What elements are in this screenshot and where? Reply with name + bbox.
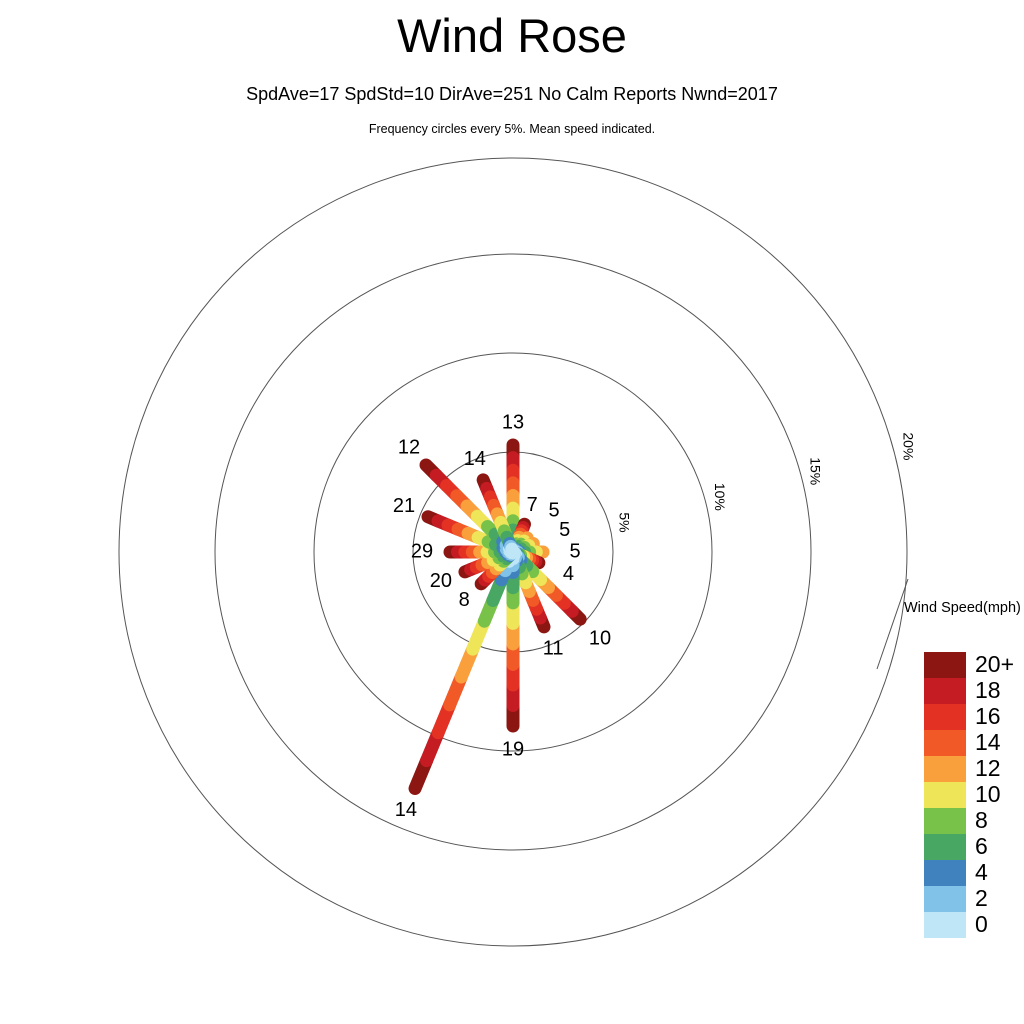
petal-mean-speed-label: 5: [548, 499, 559, 521]
legend-entry-label: 16: [975, 705, 1001, 728]
legend-color-swatch: [924, 886, 966, 912]
legend-entry-label: 0: [975, 913, 988, 936]
wind-speed-legend: Wind Speed(mph) 20+181614121086420: [898, 601, 1024, 938]
petal-speed-segment: [512, 549, 513, 552]
petal-mean-speed-label: 11: [543, 637, 564, 659]
petal-mean-speed-label: 7: [527, 494, 538, 516]
petal-mean-speed-label: 13: [502, 411, 524, 433]
legend-entry: 18: [924, 678, 1024, 704]
legend-color-swatch: [924, 782, 966, 808]
wind-rose-page: Wind Rose SpdAve=17 SpdStd=10 DirAve=251…: [0, 0, 1024, 1024]
legend-entry: 8: [924, 808, 1024, 834]
legend-entry: 4: [924, 860, 1024, 886]
legend-entry-label: 20+: [975, 653, 1014, 676]
legend-entry: 20+: [924, 652, 1024, 678]
frequency-ring-label: 15%: [808, 457, 824, 485]
legend-entry-label: 6: [975, 835, 988, 858]
legend-color-swatch: [924, 912, 966, 938]
legend-entry: 0: [924, 912, 1024, 938]
petal-mean-speed-label: 4: [563, 563, 574, 585]
legend-color-swatch: [924, 834, 966, 860]
legend-entry-label: 18: [975, 679, 1001, 702]
petal-mean-speed-label: 14: [464, 448, 486, 470]
legend-entry-list: 20+181614121086420: [924, 652, 1024, 938]
petal-mean-speed-label: 21: [393, 495, 415, 517]
legend-title: Wind Speed(mph): [904, 601, 1024, 616]
wind-rose-petals: [415, 445, 580, 789]
legend-entry: 2: [924, 886, 1024, 912]
petal-mean-speed-label: 20: [430, 570, 452, 592]
frequency-ring-labels: 5%10%15%20%: [616, 432, 916, 532]
legend-entry-label: 14: [975, 731, 1001, 754]
petal-mean-speed-label: 29: [411, 540, 433, 562]
legend-entry: 12: [924, 756, 1024, 782]
legend-color-swatch: [924, 652, 966, 678]
legend-entry-label: 4: [975, 861, 988, 884]
legend-color-swatch: [924, 860, 966, 886]
legend-entry: 14: [924, 730, 1024, 756]
legend-entry: 10: [924, 782, 1024, 808]
legend-color-swatch: [924, 704, 966, 730]
legend-color-swatch: [924, 808, 966, 834]
petal-mean-speed-label: 10: [589, 627, 611, 649]
legend-entry: 16: [924, 704, 1024, 730]
petal-mean-speed-label: 5: [559, 519, 570, 541]
legend-color-swatch: [924, 756, 966, 782]
legend-entry-label: 12: [975, 757, 1001, 780]
legend-entry-label: 8: [975, 809, 988, 832]
frequency-ring-label: 5%: [616, 512, 632, 532]
frequency-ring-label: 20%: [900, 432, 916, 460]
legend-entry-label: 10: [975, 783, 1001, 806]
legend-entry-label: 2: [975, 887, 988, 910]
petal-mean-speed-label: 12: [398, 436, 420, 458]
petal-mean-speed-label: 8: [459, 589, 470, 611]
wind-rose-plot: 5%10%15%20% 13755541011191482029211214: [0, 0, 1024, 1024]
frequency-ring-label: 10%: [712, 483, 728, 511]
legend-color-swatch: [924, 678, 966, 704]
legend-color-swatch: [924, 730, 966, 756]
legend-entry: 6: [924, 834, 1024, 860]
petal-mean-speed-label: 5: [569, 540, 580, 562]
petal-mean-speed-label: 19: [502, 738, 524, 760]
petal-mean-speed-label: 14: [395, 799, 417, 821]
